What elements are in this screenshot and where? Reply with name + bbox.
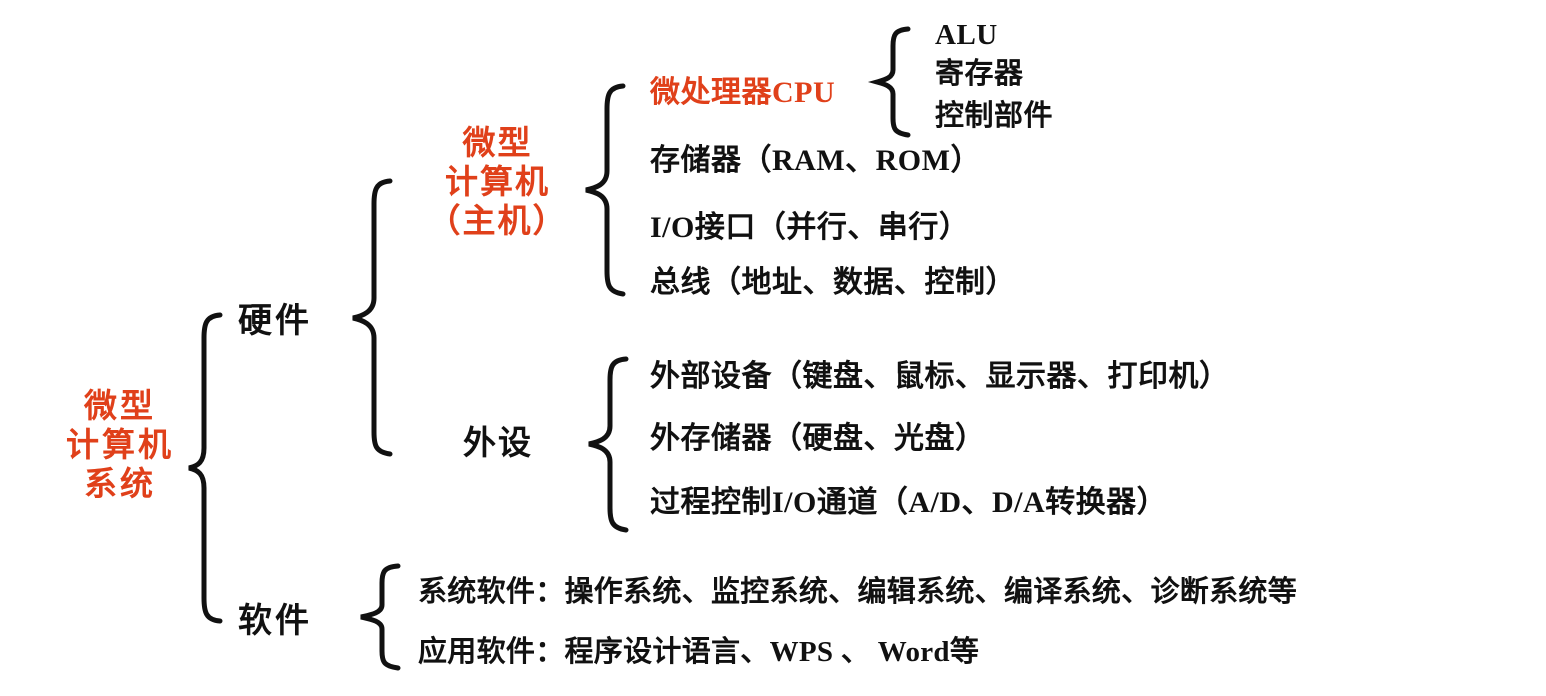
- brace-hardware: [350, 178, 396, 458]
- item-external-storage-label: 外存储器（硬盘、光盘）: [650, 422, 986, 455]
- item-system-software: 系统软件：操作系统、监控系统、编辑系统、编译系统、诊断系统等: [418, 578, 1297, 607]
- subitem-register: 寄存器: [935, 60, 1024, 89]
- item-application-software-label: 应用软件：程序设计语言、WPS 、 Word等: [418, 636, 979, 668]
- item-external-devices: 外部设备（键盘、鼠标、显示器、打印机）: [650, 362, 1230, 392]
- item-bus-label: 总线（地址、数据、控制）: [650, 266, 1016, 299]
- subitem-alu: ALU: [935, 21, 998, 50]
- microcomputer-label-line-2: 计算机: [415, 164, 580, 203]
- level3-node-microcomputer: 微型 计算机 （主机）: [415, 125, 580, 242]
- level2-hardware-label: 硬件: [238, 303, 312, 340]
- item-memory: 存储器（RAM、ROM）: [650, 146, 981, 176]
- subitem-register-label: 寄存器: [935, 58, 1024, 90]
- brace-microcomputer: [583, 83, 629, 299]
- item-io-interface: I/O接口（并行、串行）: [650, 213, 969, 243]
- brace-root: [186, 312, 226, 624]
- item-system-software-label: 系统软件：操作系统、监控系统、编辑系统、编译系统、诊断系统等: [418, 576, 1297, 608]
- level2-node-software: 软件: [238, 605, 312, 639]
- item-io-interface-label: I/O接口（并行、串行）: [650, 211, 969, 244]
- brace-software: [358, 563, 404, 671]
- brace-cpu: [874, 26, 914, 138]
- root-label-line-1: 微型: [40, 388, 200, 427]
- diagram-canvas: 微型 计算机 系统 硬件 软件 微型 计算机 （主机）: [0, 0, 1546, 696]
- item-cpu-label: 微处理器CPU: [650, 76, 835, 109]
- item-cpu: 微处理器CPU: [650, 78, 835, 108]
- root-node-label: 微型 计算机 系统: [40, 388, 200, 505]
- item-application-software: 应用软件：程序设计语言、WPS 、 Word等: [418, 638, 979, 667]
- level2-node-hardware: 硬件: [238, 305, 312, 339]
- level3-node-peripherals: 外设: [418, 425, 578, 464]
- item-bus: 总线（地址、数据、控制）: [650, 268, 1016, 298]
- subitem-control-unit: 控制部件: [935, 102, 1053, 131]
- item-process-control-io: 过程控制I/O通道（A/D、D/A转换器）: [650, 488, 1167, 518]
- root-label-line-3: 系统: [40, 466, 200, 505]
- item-external-storage: 外存储器（硬盘、光盘）: [650, 424, 986, 454]
- item-memory-label: 存储器（RAM、ROM）: [650, 144, 981, 177]
- item-process-control-io-label: 过程控制I/O通道（A/D、D/A转换器）: [650, 486, 1167, 519]
- microcomputer-label-line-1: 微型: [415, 125, 580, 164]
- peripherals-label: 外设: [418, 425, 578, 464]
- subitem-alu-label: ALU: [935, 19, 998, 51]
- root-label-line-2: 计算机: [40, 427, 200, 466]
- microcomputer-label-line-3: （主机）: [415, 203, 580, 242]
- level2-software-label: 软件: [238, 603, 312, 640]
- subitem-control-unit-label: 控制部件: [935, 100, 1053, 132]
- brace-peripherals: [586, 356, 632, 534]
- item-external-devices-label: 外部设备（键盘、鼠标、显示器、打印机）: [650, 360, 1230, 393]
